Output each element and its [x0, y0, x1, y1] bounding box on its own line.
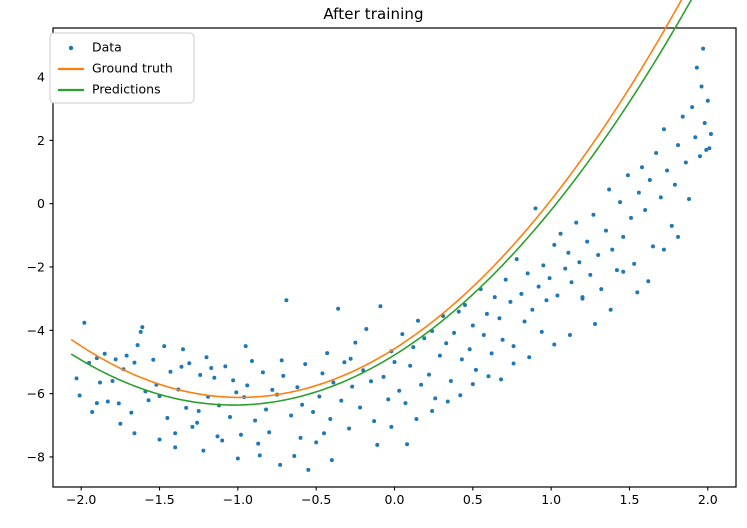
data-point — [382, 375, 386, 379]
data-point — [162, 344, 166, 348]
x-tick-label: −1.5 — [144, 492, 174, 507]
y-tick-label: 0 — [37, 196, 45, 211]
data-point — [687, 197, 691, 201]
data-point — [325, 351, 329, 355]
data-point — [358, 406, 362, 410]
data-point — [559, 232, 563, 236]
data-point — [676, 143, 680, 147]
data-point — [698, 154, 702, 158]
data-point — [75, 376, 79, 380]
data-point — [289, 413, 293, 417]
data-point — [504, 278, 508, 282]
data-point — [471, 382, 475, 386]
data-point — [111, 379, 115, 383]
data-point — [132, 361, 136, 365]
data-point — [78, 394, 82, 398]
data-point — [700, 85, 704, 89]
scatter-series-data — [75, 47, 713, 472]
data-point — [497, 316, 501, 320]
data-point — [591, 213, 595, 217]
data-point — [706, 99, 710, 103]
data-point — [670, 224, 674, 228]
data-point — [320, 371, 324, 375]
data-point — [626, 173, 630, 177]
data-point — [339, 399, 343, 403]
data-point — [168, 370, 172, 374]
data-point — [405, 442, 409, 446]
data-point — [609, 308, 613, 312]
data-point — [278, 463, 282, 467]
data-point — [654, 151, 658, 155]
data-point — [457, 310, 461, 314]
data-point — [486, 374, 490, 378]
data-point — [400, 332, 404, 336]
data-point — [637, 191, 641, 195]
data-point — [593, 322, 597, 326]
data-point — [281, 374, 285, 378]
data-point — [629, 216, 633, 220]
data-point — [140, 325, 144, 329]
data-point — [537, 285, 541, 289]
data-point — [245, 383, 249, 387]
x-tick-label: −1.0 — [223, 492, 253, 507]
data-point — [474, 368, 478, 372]
x-tick-label: 1.0 — [541, 492, 561, 507]
data-point — [306, 468, 310, 472]
data-point — [610, 248, 614, 252]
data-point — [378, 304, 382, 308]
y-tick-label: −4 — [27, 323, 45, 338]
data-point — [173, 445, 177, 449]
data-point — [701, 47, 705, 51]
data-point — [438, 354, 442, 358]
data-point — [220, 438, 224, 442]
data-point — [673, 183, 677, 187]
data-point — [151, 358, 155, 362]
data-point — [707, 146, 711, 150]
data-point — [386, 397, 390, 401]
data-point — [322, 431, 326, 435]
data-point — [253, 419, 257, 423]
data-point — [512, 362, 516, 366]
data-point — [585, 240, 589, 244]
legend-box: DataGround truthPredictions — [50, 33, 194, 103]
data-point — [519, 292, 523, 296]
data-point — [331, 381, 335, 385]
data-point — [244, 344, 248, 348]
data-point — [596, 253, 600, 257]
data-point — [103, 352, 107, 356]
data-point — [369, 379, 373, 383]
data-point — [526, 271, 530, 275]
data-point — [446, 400, 450, 404]
data-point — [125, 354, 129, 358]
x-axis-ticks: −2.0−1.5−1.0−0.50.00.51.01.52.0 — [66, 487, 718, 507]
data-point — [422, 336, 426, 340]
y-tick-label: 2 — [37, 133, 45, 148]
legend-marker-dot — [69, 46, 73, 50]
data-point — [205, 355, 209, 359]
data-point — [267, 430, 271, 434]
data-point — [523, 319, 527, 323]
data-point — [508, 300, 512, 304]
data-point — [501, 338, 505, 342]
data-point — [295, 385, 299, 389]
data-point — [197, 409, 201, 413]
figure-canvas: After training −2.0−1.5−1.0−0.50.00.51.0… — [0, 0, 747, 528]
data-point — [419, 383, 423, 387]
data-point — [342, 360, 346, 364]
data-point — [527, 355, 531, 359]
data-point — [640, 165, 644, 169]
data-point — [444, 341, 448, 345]
data-point — [234, 390, 238, 394]
data-point — [201, 449, 205, 453]
data-point — [258, 453, 262, 457]
data-point — [676, 235, 680, 239]
data-point — [662, 127, 666, 131]
data-point — [280, 358, 284, 362]
y-axis-ticks: 420−2−4−6−8 — [27, 70, 53, 465]
data-point — [95, 401, 99, 405]
y-tick-label: 4 — [37, 70, 45, 85]
data-point — [621, 235, 625, 239]
data-point — [427, 373, 431, 377]
data-point — [604, 229, 608, 233]
data-point — [618, 200, 622, 204]
data-point — [132, 431, 136, 435]
data-point — [347, 426, 351, 430]
data-point — [397, 389, 401, 393]
data-point — [643, 208, 647, 212]
data-point — [607, 187, 611, 191]
data-point — [136, 343, 140, 347]
data-point — [292, 454, 296, 458]
data-point — [372, 419, 376, 423]
data-point — [651, 244, 655, 248]
data-point — [393, 360, 397, 364]
data-point — [574, 221, 578, 225]
data-point — [114, 357, 118, 361]
data-point — [328, 417, 332, 421]
x-tick-label: −0.5 — [301, 492, 331, 507]
legend-label: Data — [92, 40, 122, 55]
data-point — [430, 409, 434, 413]
data-point — [98, 381, 102, 385]
data-point — [580, 295, 584, 299]
data-point — [90, 410, 94, 414]
data-point — [408, 364, 412, 368]
data-point — [566, 251, 570, 255]
data-point — [588, 273, 592, 277]
data-point — [117, 401, 121, 405]
data-point — [695, 66, 699, 70]
data-point — [228, 415, 232, 419]
data-point — [173, 431, 177, 435]
x-tick-label: 0.0 — [385, 492, 405, 507]
data-point — [599, 287, 603, 291]
data-point — [106, 400, 110, 404]
data-point — [552, 243, 556, 247]
data-point — [389, 425, 393, 429]
data-point — [215, 434, 219, 438]
data-point — [82, 321, 86, 325]
data-point — [615, 268, 619, 272]
data-point — [349, 357, 353, 361]
data-point — [693, 135, 697, 139]
data-point — [646, 279, 650, 283]
data-point — [314, 440, 318, 444]
y-tick-label: −6 — [27, 386, 45, 401]
data-point — [449, 379, 453, 383]
data-point — [300, 403, 304, 407]
data-point — [158, 438, 162, 442]
data-point — [330, 458, 334, 462]
x-tick-label: 0.5 — [463, 492, 483, 507]
data-point — [270, 388, 274, 392]
data-point — [261, 370, 265, 374]
data-point — [452, 331, 456, 335]
data-point — [129, 411, 133, 415]
data-point — [458, 393, 462, 397]
data-point — [198, 373, 202, 377]
plot-area: −2.0−1.5−1.0−0.50.00.51.01.52.0 420−2−4−… — [0, 0, 747, 528]
data-point — [709, 132, 713, 136]
x-tick-label: 2.0 — [698, 492, 718, 507]
data-point — [284, 298, 288, 302]
data-point — [239, 433, 243, 437]
data-point — [499, 377, 503, 381]
data-point — [659, 195, 663, 199]
data-point — [256, 442, 260, 446]
data-point — [468, 347, 472, 351]
legend-label: Predictions — [92, 82, 161, 97]
data-point — [209, 366, 213, 370]
data-point — [433, 396, 437, 400]
data-point — [568, 333, 572, 337]
data-point — [187, 361, 191, 365]
data-point — [311, 410, 315, 414]
data-point — [632, 262, 636, 266]
data-point — [190, 425, 194, 429]
data-point — [555, 293, 559, 297]
data-point — [662, 248, 666, 252]
legend-label: Ground truth — [92, 61, 173, 76]
data-point — [665, 168, 669, 172]
data-point — [179, 365, 183, 369]
data-point — [490, 351, 494, 355]
data-point — [184, 406, 188, 410]
data-point — [165, 416, 169, 420]
data-point — [621, 270, 625, 274]
data-point — [375, 443, 379, 447]
data-point — [570, 280, 574, 284]
data-point — [690, 105, 694, 109]
data-point — [493, 295, 497, 299]
data-point — [684, 161, 688, 165]
data-point — [703, 121, 707, 125]
data-point — [147, 398, 151, 402]
data-point — [303, 362, 307, 366]
data-point — [236, 457, 240, 461]
data-point — [212, 376, 216, 380]
data-point — [264, 407, 268, 411]
data-point — [541, 263, 545, 267]
x-tick-label: 1.5 — [620, 492, 640, 507]
data-point — [482, 333, 486, 337]
data-point — [485, 312, 489, 316]
data-point — [118, 422, 122, 426]
data-point — [411, 345, 415, 349]
data-point — [552, 343, 556, 347]
data-point — [299, 436, 303, 440]
data-point — [515, 257, 519, 261]
data-point — [635, 290, 639, 294]
data-point — [350, 385, 354, 389]
data-point — [681, 115, 685, 119]
data-point — [533, 206, 537, 210]
data-point — [471, 324, 475, 328]
data-point — [250, 359, 254, 363]
data-point — [648, 178, 652, 182]
y-tick-label: −8 — [27, 449, 45, 464]
data-point — [181, 347, 185, 351]
data-point — [317, 394, 321, 398]
data-point — [416, 319, 420, 323]
data-point — [231, 378, 235, 382]
data-point — [403, 401, 407, 405]
y-tick-label: −2 — [27, 259, 45, 274]
data-point — [195, 421, 199, 425]
data-point — [353, 341, 357, 345]
data-point — [548, 276, 552, 280]
data-point — [336, 307, 340, 311]
data-point — [540, 330, 544, 334]
x-tick-label: −2.0 — [66, 492, 96, 507]
data-point — [223, 364, 227, 368]
data-point — [563, 267, 567, 271]
data-point — [460, 357, 464, 361]
data-point — [577, 260, 581, 264]
data-point — [544, 298, 548, 302]
data-point — [530, 308, 534, 312]
data-point — [364, 327, 368, 331]
data-point — [414, 417, 418, 421]
data-point — [139, 330, 143, 334]
data-point — [512, 344, 516, 348]
